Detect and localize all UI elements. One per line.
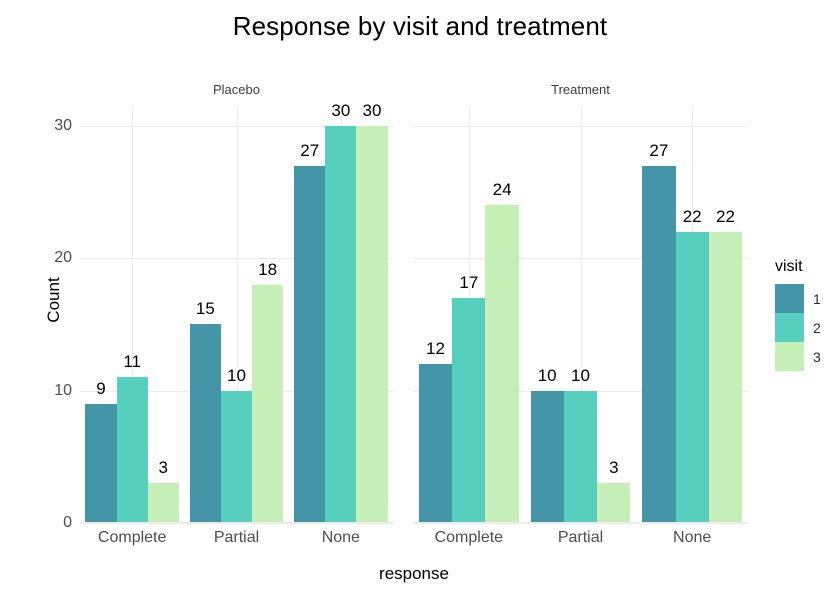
y-tick-label: 30	[28, 117, 72, 135]
bar[interactable]	[85, 404, 116, 523]
bar-value-label: 9	[96, 379, 105, 399]
legend-swatch-icon	[775, 342, 804, 371]
x-tick-label: None	[673, 529, 711, 547]
bar[interactable]	[252, 285, 283, 523]
bar[interactable]	[642, 166, 675, 523]
bar-value-label: 10	[538, 366, 557, 386]
bar-value-label: 30	[362, 101, 381, 121]
legend-swatch-icon	[775, 313, 804, 342]
x-tick-label: Partial	[558, 529, 603, 547]
bar[interactable]	[531, 391, 564, 523]
bar[interactable]	[709, 232, 742, 523]
facet-strip-placebo: Placebo	[80, 80, 393, 100]
x-tick-label: Complete	[435, 529, 503, 547]
chart-title: Response by visit and treatment	[0, 9, 840, 43]
bar[interactable]	[597, 483, 630, 523]
bar-value-label: 24	[493, 180, 512, 200]
bar[interactable]	[564, 391, 597, 523]
y-axis-ticks: 0102030	[22, 0, 72, 600]
legend-item-label: 2	[813, 320, 821, 336]
chart-canvas: Response by visit and treatment Count 01…	[0, 0, 840, 600]
bar-value-label: 18	[258, 260, 277, 280]
panel-placebo: 9113151018273030	[80, 106, 393, 523]
bar[interactable]	[419, 364, 452, 523]
x-tick-label: Partial	[214, 529, 259, 547]
gridline-horizontal	[413, 523, 748, 524]
bar-value-label: 22	[716, 207, 735, 227]
bar[interactable]	[325, 126, 356, 523]
bar-value-label: 27	[300, 141, 319, 161]
bar[interactable]	[452, 298, 485, 523]
x-tick-label: None	[322, 529, 360, 547]
legend-entries: 123	[775, 284, 821, 371]
y-tick-label: 10	[28, 382, 72, 400]
bar-value-label: 12	[426, 339, 445, 359]
bar[interactable]	[117, 377, 148, 523]
legend-item-visit-1[interactable]: 1	[775, 284, 821, 313]
bar[interactable]	[221, 391, 252, 523]
facet-strip-treatment: Treatment	[413, 80, 748, 100]
bar-value-label: 10	[227, 366, 246, 386]
y-tick-label: 0	[28, 514, 72, 532]
bar[interactable]	[148, 483, 179, 523]
bar-value-label: 3	[159, 458, 168, 478]
bar-value-label: 27	[649, 141, 668, 161]
legend-item-label: 1	[813, 291, 821, 307]
bar[interactable]	[294, 166, 325, 523]
bar-value-label: 3	[609, 458, 618, 478]
bar-value-label: 30	[331, 101, 350, 121]
bar-value-label: 10	[571, 366, 590, 386]
legend-item-visit-3[interactable]: 3	[775, 342, 821, 371]
gridline-horizontal	[80, 523, 393, 524]
bar[interactable]	[356, 126, 387, 523]
legend-swatch-icon	[775, 284, 804, 313]
bar-value-label: 11	[123, 352, 141, 372]
legend-item-visit-2[interactable]: 2	[775, 313, 821, 342]
legend-title: visit	[775, 258, 821, 276]
legend: visit 123	[775, 258, 821, 371]
x-tick-label: Complete	[98, 529, 166, 547]
bar[interactable]	[485, 205, 518, 523]
x-axis-title: response	[80, 564, 748, 584]
bar[interactable]	[676, 232, 709, 523]
legend-item-label: 3	[813, 349, 821, 365]
bar-value-label: 15	[196, 299, 215, 319]
axis-baseline	[413, 522, 748, 523]
panel-treatment: 12172410103272222	[413, 106, 748, 523]
bar[interactable]	[190, 324, 221, 523]
bar-value-label: 22	[683, 207, 702, 227]
bar-value-label: 17	[459, 273, 478, 293]
y-tick-label: 20	[28, 249, 72, 267]
axis-baseline	[80, 522, 393, 523]
